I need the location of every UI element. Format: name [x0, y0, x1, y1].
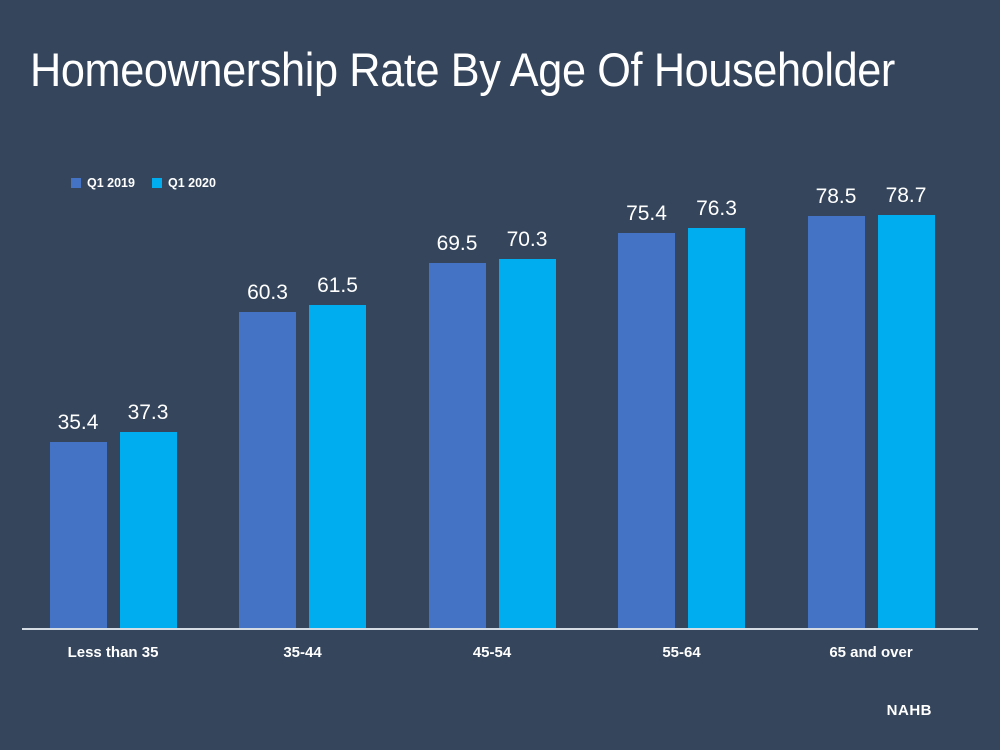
source-attribution: NAHB — [887, 702, 932, 719]
bar-group: 78.578.7 — [808, 122, 935, 628]
bar-value-label: 78.7 — [886, 185, 927, 206]
category-label: 65 and over — [829, 645, 912, 660]
category-label: 35-44 — [283, 645, 321, 660]
bar-value-label: 78.5 — [816, 186, 857, 207]
bar-group: 60.361.5 — [239, 122, 366, 628]
bar-group: 35.437.3 — [50, 122, 177, 628]
x-axis-baseline — [22, 628, 978, 630]
bar-q1-2019[interactable] — [808, 216, 865, 628]
bar-q1-2019[interactable] — [618, 233, 675, 628]
bar-value-label: 35.4 — [58, 412, 99, 433]
bar-value-label: 75.4 — [626, 203, 667, 224]
bar-group: 69.570.3 — [429, 122, 556, 628]
bar-q1-2019[interactable] — [429, 263, 486, 628]
bar-value-label: 70.3 — [507, 229, 548, 250]
plot-area: 35.437.3Less than 3560.361.535-4469.570.… — [0, 0, 1000, 750]
bar-q1-2019[interactable] — [239, 312, 296, 628]
bar-q1-2019[interactable] — [50, 442, 107, 628]
chart-slide: Homeownership Rate By Age Of Householder… — [0, 0, 1000, 750]
bar-value-label: 76.3 — [696, 198, 737, 219]
category-label: 55-64 — [662, 645, 700, 660]
bar-q1-2020[interactable] — [309, 305, 366, 628]
bar-q1-2020[interactable] — [120, 432, 177, 628]
category-label: Less than 35 — [68, 645, 159, 660]
bar-value-label: 60.3 — [247, 282, 288, 303]
bar-q1-2020[interactable] — [878, 215, 935, 628]
category-label: 45-54 — [473, 645, 511, 660]
bar-value-label: 61.5 — [317, 275, 358, 296]
bar-q1-2020[interactable] — [688, 228, 745, 628]
bar-group: 75.476.3 — [618, 122, 745, 628]
bar-q1-2020[interactable] — [499, 259, 556, 628]
bar-value-label: 69.5 — [437, 233, 478, 254]
bar-value-label: 37.3 — [128, 402, 169, 423]
